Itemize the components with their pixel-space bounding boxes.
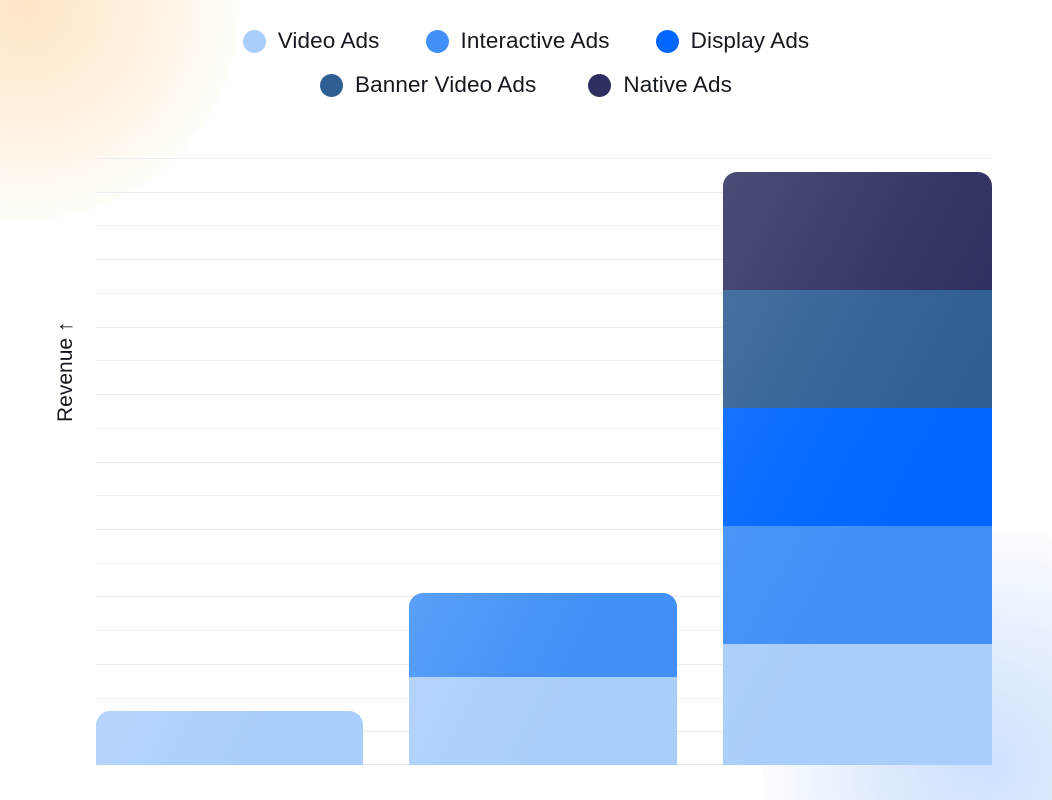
bar-group[interactable] <box>409 593 677 765</box>
bar-segment[interactable] <box>723 526 992 644</box>
bar-segment[interactable] <box>723 408 992 526</box>
legend-swatch-native-ads <box>588 74 611 97</box>
bar-segment[interactable] <box>409 677 677 765</box>
bar-segment[interactable] <box>96 711 363 765</box>
legend-label-interactive-ads: Interactive Ads <box>461 28 610 54</box>
bar-stack <box>409 593 677 765</box>
legend-item-interactive-ads[interactable]: Interactive Ads <box>426 28 610 54</box>
legend-row-secondary: Banner Video Ads Native Ads <box>0 72 1052 98</box>
plot-area <box>96 158 992 765</box>
legend-label-banner-video-ads: Banner Video Ads <box>355 72 536 98</box>
y-axis-title: Revenue ↑ <box>54 382 78 422</box>
legend-item-native-ads[interactable]: Native Ads <box>588 72 732 98</box>
legend-label-display-ads: Display Ads <box>691 28 810 54</box>
bar-stack <box>723 172 992 766</box>
legend-swatch-display-ads <box>656 30 679 53</box>
legend-item-banner-video-ads[interactable]: Banner Video Ads <box>320 72 536 98</box>
legend-swatch-interactive-ads <box>426 30 449 53</box>
legend-item-display-ads[interactable]: Display Ads <box>656 28 810 54</box>
bar-segment[interactable] <box>409 593 677 677</box>
legend-label-native-ads: Native Ads <box>623 72 732 98</box>
legend-row-primary: Video Ads Interactive Ads Display Ads <box>0 28 1052 54</box>
bar-group[interactable] <box>723 172 992 766</box>
bar-stack <box>96 711 363 765</box>
bar-segment[interactable] <box>723 172 992 290</box>
bar-segment[interactable] <box>723 644 992 765</box>
legend-swatch-banner-video-ads <box>320 74 343 97</box>
legend-swatch-video-ads <box>243 30 266 53</box>
chart-canvas: Video Ads Interactive Ads Display Ads Ba… <box>0 0 1052 800</box>
gridline <box>96 158 992 159</box>
chart-legend: Video Ads Interactive Ads Display Ads Ba… <box>0 28 1052 98</box>
legend-label-video-ads: Video Ads <box>278 28 380 54</box>
legend-item-video-ads[interactable]: Video Ads <box>243 28 380 54</box>
bar-segment[interactable] <box>723 290 992 408</box>
bar-group[interactable] <box>96 711 363 765</box>
